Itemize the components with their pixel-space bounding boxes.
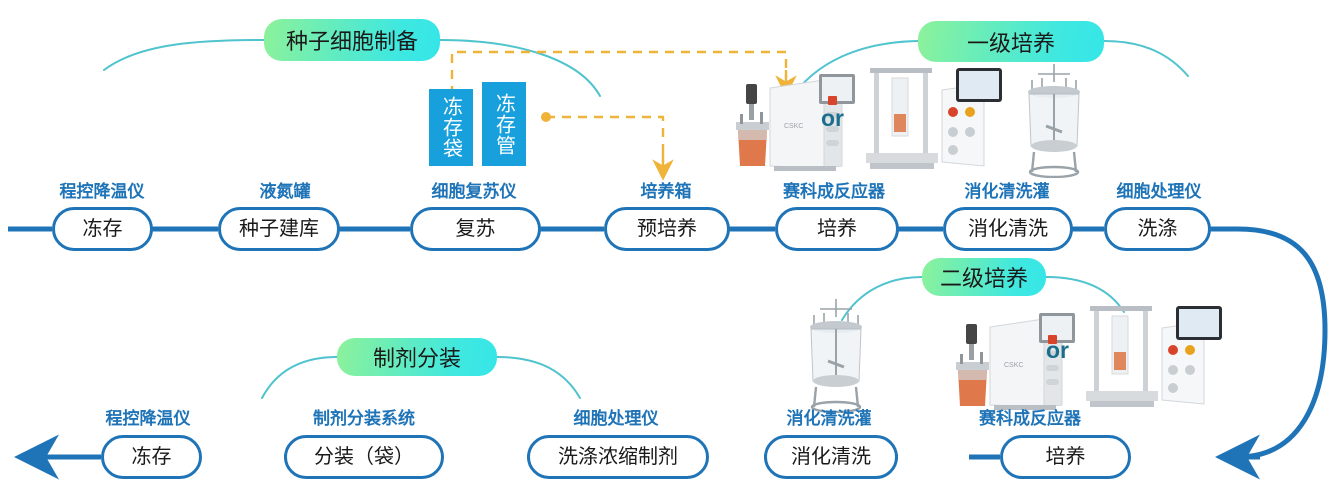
step-label: 洗涤浓缩制剂 xyxy=(558,447,678,467)
or-label-top: or xyxy=(821,105,844,132)
step-pill-top-2[interactable]: 复苏 xyxy=(410,207,541,251)
banner-secondary-culture[interactable]: 二级培养 xyxy=(922,258,1046,296)
rocker-system-icon xyxy=(856,62,1006,177)
eq-label-top-6: 细胞处理仪 xyxy=(1079,177,1239,202)
cryo-vial-box[interactable]: 冻存管 xyxy=(482,82,526,166)
eq-label-bottom-0: 赛科成反应器 xyxy=(925,404,1135,429)
step-label: 冻存 xyxy=(83,219,123,239)
step-label: 种子建库 xyxy=(239,219,319,239)
eq-label-top-3: 培养箱 xyxy=(586,177,746,202)
step-label: 培养 xyxy=(817,219,857,239)
banner-formulation-filling[interactable]: 制剂分装 xyxy=(337,338,497,376)
banner-primary-culture[interactable]: 一级培养 xyxy=(918,21,1104,62)
step-pill-top-6[interactable]: 洗涤 xyxy=(1104,207,1211,251)
eq-label-bottom-1: 消化清洗灌 xyxy=(744,404,914,429)
svg-text:CSKC: CSKC xyxy=(1004,362,1023,369)
workflow-diagram: CSKC xyxy=(0,0,1343,500)
glass-bioreactor-icon xyxy=(1008,60,1100,178)
controller-cabinet-icon: CSKC xyxy=(762,66,867,176)
cryo-vial-label: 冻存管 xyxy=(490,93,519,156)
rocker-system-icon xyxy=(1076,300,1226,415)
eq-label-top-0: 程控降温仪 xyxy=(22,177,182,202)
controller-cabinet-icon: CSKC xyxy=(982,305,1087,415)
step-label: 培养 xyxy=(1046,447,1086,467)
step-label: 复苏 xyxy=(456,219,496,239)
eq-label-bottom-3: 制剂分装系统 xyxy=(278,404,450,429)
step-pill-top-4[interactable]: 培养 xyxy=(775,207,899,251)
step-label: 分装（袋） xyxy=(314,447,414,467)
step-pill-top-3[interactable]: 预培养 xyxy=(604,207,730,251)
step-label: 冻存 xyxy=(132,447,172,467)
glass-bioreactor-icon xyxy=(790,295,882,413)
banner-label: 制剂分装 xyxy=(373,341,461,373)
step-pill-bottom-4[interactable]: 冻存 xyxy=(101,435,202,479)
step-pill-bottom-3[interactable]: 分装（袋） xyxy=(284,435,444,479)
step-pill-top-0[interactable]: 冻存 xyxy=(52,207,153,251)
eq-label-top-4: 赛科成反应器 xyxy=(754,177,914,202)
step-pill-top-1[interactable]: 种子建库 xyxy=(218,207,340,251)
or-label-bottom: or xyxy=(1046,337,1069,364)
eq-label-top-2: 细胞复苏仪 xyxy=(394,177,554,202)
eq-label-top-1: 液氮罐 xyxy=(205,177,365,202)
eq-label-top-5: 消化清洗灌 xyxy=(927,177,1087,202)
banner-label: 种子细胞制备 xyxy=(286,24,418,56)
step-pill-bottom-0[interactable]: 培养 xyxy=(1000,435,1131,479)
eq-label-bottom-2: 细胞处理仪 xyxy=(531,404,701,429)
step-label: 消化清洗 xyxy=(791,447,871,467)
step-label: 洗涤 xyxy=(1138,219,1178,239)
step-label: 消化清洗 xyxy=(968,219,1048,239)
eq-label-bottom-4: 程控降温仪 xyxy=(68,404,228,429)
banner-label: 二级培养 xyxy=(940,261,1028,293)
step-pill-top-5[interactable]: 消化清洗 xyxy=(943,207,1073,251)
cryo-bag-box[interactable]: 冻存袋 xyxy=(429,89,473,166)
cryo-bag-label: 冻存袋 xyxy=(437,96,466,159)
right-loop-connector xyxy=(1210,229,1325,457)
step-pill-bottom-2[interactable]: 洗涤浓缩制剂 xyxy=(527,435,709,479)
or-text: or xyxy=(1046,337,1069,363)
cryo-vial-junction-dot xyxy=(541,112,551,122)
or-text: or xyxy=(821,105,844,131)
step-pill-bottom-1[interactable]: 消化清洗 xyxy=(764,435,898,479)
banner-label: 一级培养 xyxy=(967,26,1055,58)
step-label: 预培养 xyxy=(637,219,697,239)
banner-seed-cell-prep[interactable]: 种子细胞制备 xyxy=(264,19,440,61)
svg-text:CSKC: CSKC xyxy=(784,123,803,130)
